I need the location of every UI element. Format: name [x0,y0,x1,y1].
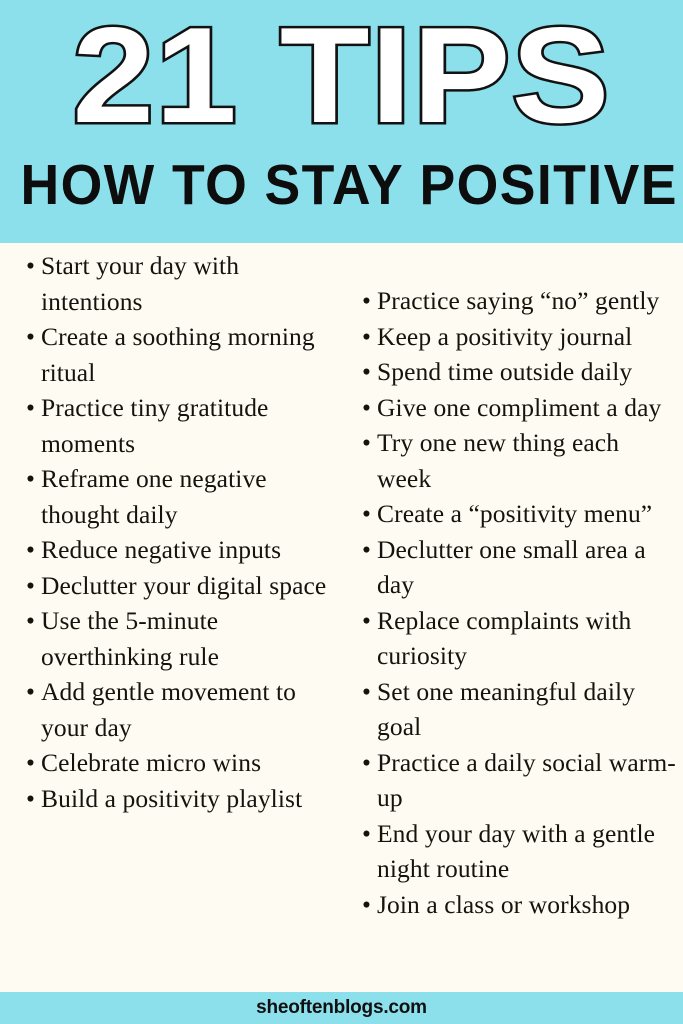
pinterest-infographic: 21 TIPS HOW TO STAY POSITIVE •Start your… [0,0,683,1024]
tip-text: Try one new thing each week [377,428,619,493]
tip-list-item: •Reframe one negative thought daily [0,461,340,532]
tip-list-item: •Set one meaningful daily goal [340,674,683,745]
tip-list-item: •Build a positivity playlist [0,781,340,817]
tip-list-item: •Create a “positivity menu” [340,496,683,532]
tip-list-item: •Practice tiny gratitude moments [0,390,340,461]
tip-text: Add gentle movement to your day [41,677,296,742]
footer-band: sheoftenblogs.com [0,992,683,1024]
tips-column-left: •Start your day with intentions•Create a… [0,243,340,816]
tip-list-item: •End your day with a gentle night routin… [340,816,683,887]
tip-list-item: •Give one compliment a day [340,390,683,426]
tip-text: Use the 5-minute overthinking rule [41,606,219,671]
tip-list-item: •Replace complaints with curiosity [340,603,683,674]
tip-text: Practice saying “no” gently [377,286,659,315]
page-subtitle: HOW TO STAY POSITIVE [20,152,662,218]
tip-text: Declutter one small area a day [377,535,646,600]
tip-text: Keep a positivity journal [377,322,632,351]
tip-list-item: •Celebrate micro wins [0,745,340,781]
bullet-icon: • [362,425,371,461]
bullet-icon: • [362,887,371,923]
bullet-icon: • [362,603,371,639]
bullet-icon: • [26,461,35,497]
tip-text: Spend time outside daily [377,357,632,386]
tip-list-item: •Start your day with intentions [0,248,340,319]
tips-list-left: •Start your day with intentions•Create a… [0,248,340,816]
tip-list-item: •Practice saying “no” gently [340,283,683,319]
bullet-icon: • [362,674,371,710]
tip-list-item: •Spend time outside daily [340,354,683,390]
bullet-icon: • [26,674,35,710]
tip-text: Give one compliment a day [377,393,661,422]
tips-column-right: •Practice saying “no” gently•Keep a posi… [340,243,683,922]
tip-list-item: •Declutter one small area a day [340,532,683,603]
tip-text: Celebrate micro wins [41,748,261,777]
bullet-icon: • [26,390,35,426]
bullet-icon: • [26,532,35,568]
tip-list-item: • Join a class or workshop [340,887,683,923]
tip-list-item: •Add gentle movement to your day [0,674,340,745]
tip-text: Set one meaningful daily goal [377,677,635,742]
tips-columns: •Start your day with intentions•Create a… [0,243,683,992]
tip-text: Replace complaints with curiosity [377,606,631,671]
tip-list-item: •Practice a daily social warm-up [340,745,683,816]
tip-text: Build a positivity playlist [41,784,302,813]
bullet-icon: • [362,816,371,852]
tip-list-item: •Keep a positivity journal [340,319,683,355]
bullet-icon: • [26,603,35,639]
tip-text: End your day with a gentle night routine [377,819,655,884]
tip-list-item: •Try one new thing each week [340,425,683,496]
bullet-icon: • [362,319,371,355]
tip-text: Create a soothing morning ritual [41,322,315,387]
tip-list-item: •Reduce negative inputs [0,532,340,568]
tip-text: Reduce negative inputs [41,535,281,564]
bullet-icon: • [362,496,371,532]
tip-text: Join a class or workshop [377,890,630,919]
bullet-icon: • [26,568,35,604]
bullet-icon: • [26,781,35,817]
website-credit: sheoftenblogs.com [0,992,683,1024]
tip-list-item: •Declutter your digital space [0,568,340,604]
tip-list-item: •Create a soothing morning ritual [0,319,340,390]
bullet-icon: • [362,283,371,319]
tip-text: Practice a daily social warm-up [377,748,676,813]
page-title: 21 TIPS [0,2,683,148]
tips-list-right: •Practice saying “no” gently•Keep a posi… [340,283,683,922]
tip-text: Practice tiny gratitude moments [41,393,268,458]
header-band: 21 TIPS HOW TO STAY POSITIVE [0,0,683,243]
bullet-icon: • [362,390,371,426]
tip-text: Reframe one negative thought daily [41,464,267,529]
bullet-icon: • [362,532,371,568]
tip-text: Start your day with intentions [41,251,239,316]
bullet-icon: • [26,248,35,284]
bullet-icon: • [26,745,35,781]
bullet-icon: • [362,745,371,781]
bullet-icon: • [26,319,35,355]
tip-text: Create a “positivity menu” [377,499,652,528]
tip-list-item: •Use the 5-minute overthinking rule [0,603,340,674]
tip-text: Declutter your digital space [41,571,326,600]
bullet-icon: • [362,354,371,390]
